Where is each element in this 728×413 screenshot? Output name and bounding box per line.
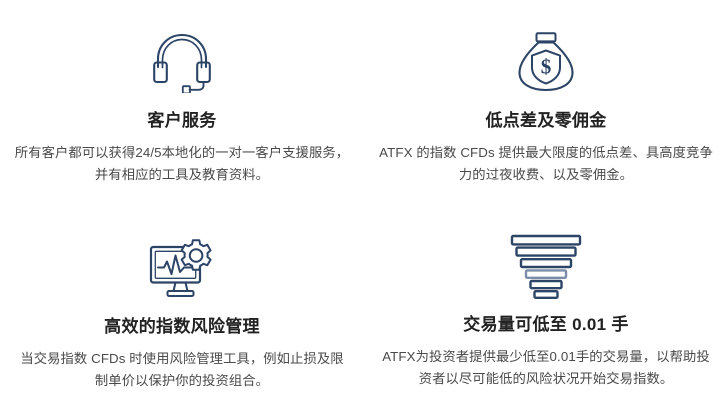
feature-description: ATFX为投资者提供最少低至0.01手的交易量，以帮助投资者以尽可能低的风险状况… xyxy=(378,346,714,389)
monitor-chart-gear-icon xyxy=(147,232,217,304)
features-grid: 客户服务 所有客户都可以获得24/5本地化的一对一客户支援服务，并有相应的工具及… xyxy=(0,0,728,413)
svg-text:$: $ xyxy=(541,55,552,79)
funnel-bars-icon xyxy=(509,230,583,302)
feature-description: 所有客户都可以获得24/5本地化的一对一客户支援服务，并有相应的工具及教育资料。 xyxy=(14,142,350,185)
money-bag-shield-dollar-icon: $ xyxy=(511,26,581,98)
feature-description: ATFX 的指数 CFDs 提供最大限度的低点差、具高度竞争力的过夜收费、以及零… xyxy=(378,142,714,185)
feature-card-risk-management: 高效的指数风险管理 当交易指数 CFDs 时使用风险管理工具，例如止损及限制单价… xyxy=(0,206,364,413)
feature-card-customer-service: 客户服务 所有客户都可以获得24/5本地化的一对一客户支援服务，并有相应的工具及… xyxy=(0,0,364,206)
headset-icon xyxy=(148,26,216,98)
feature-description: 当交易指数 CFDs 时使用风险管理工具，例如止损及限制单价以保护你的投资组合。 xyxy=(14,348,350,391)
feature-title: 低点差及零佣金 xyxy=(485,111,606,131)
feature-card-min-lot-size: 交易量可低至 0.01 手 ATFX为投资者提供最少低至0.01手的交易量，以帮… xyxy=(364,206,728,413)
feature-title: 高效的指数风险管理 xyxy=(104,317,260,337)
feature-card-low-spread: $ 低点差及零佣金 ATFX 的指数 CFDs 提供最大限度的低点差、具高度竞争… xyxy=(364,0,728,206)
feature-title: 客户服务 xyxy=(147,111,216,131)
feature-title: 交易量可低至 0.01 手 xyxy=(463,315,628,335)
